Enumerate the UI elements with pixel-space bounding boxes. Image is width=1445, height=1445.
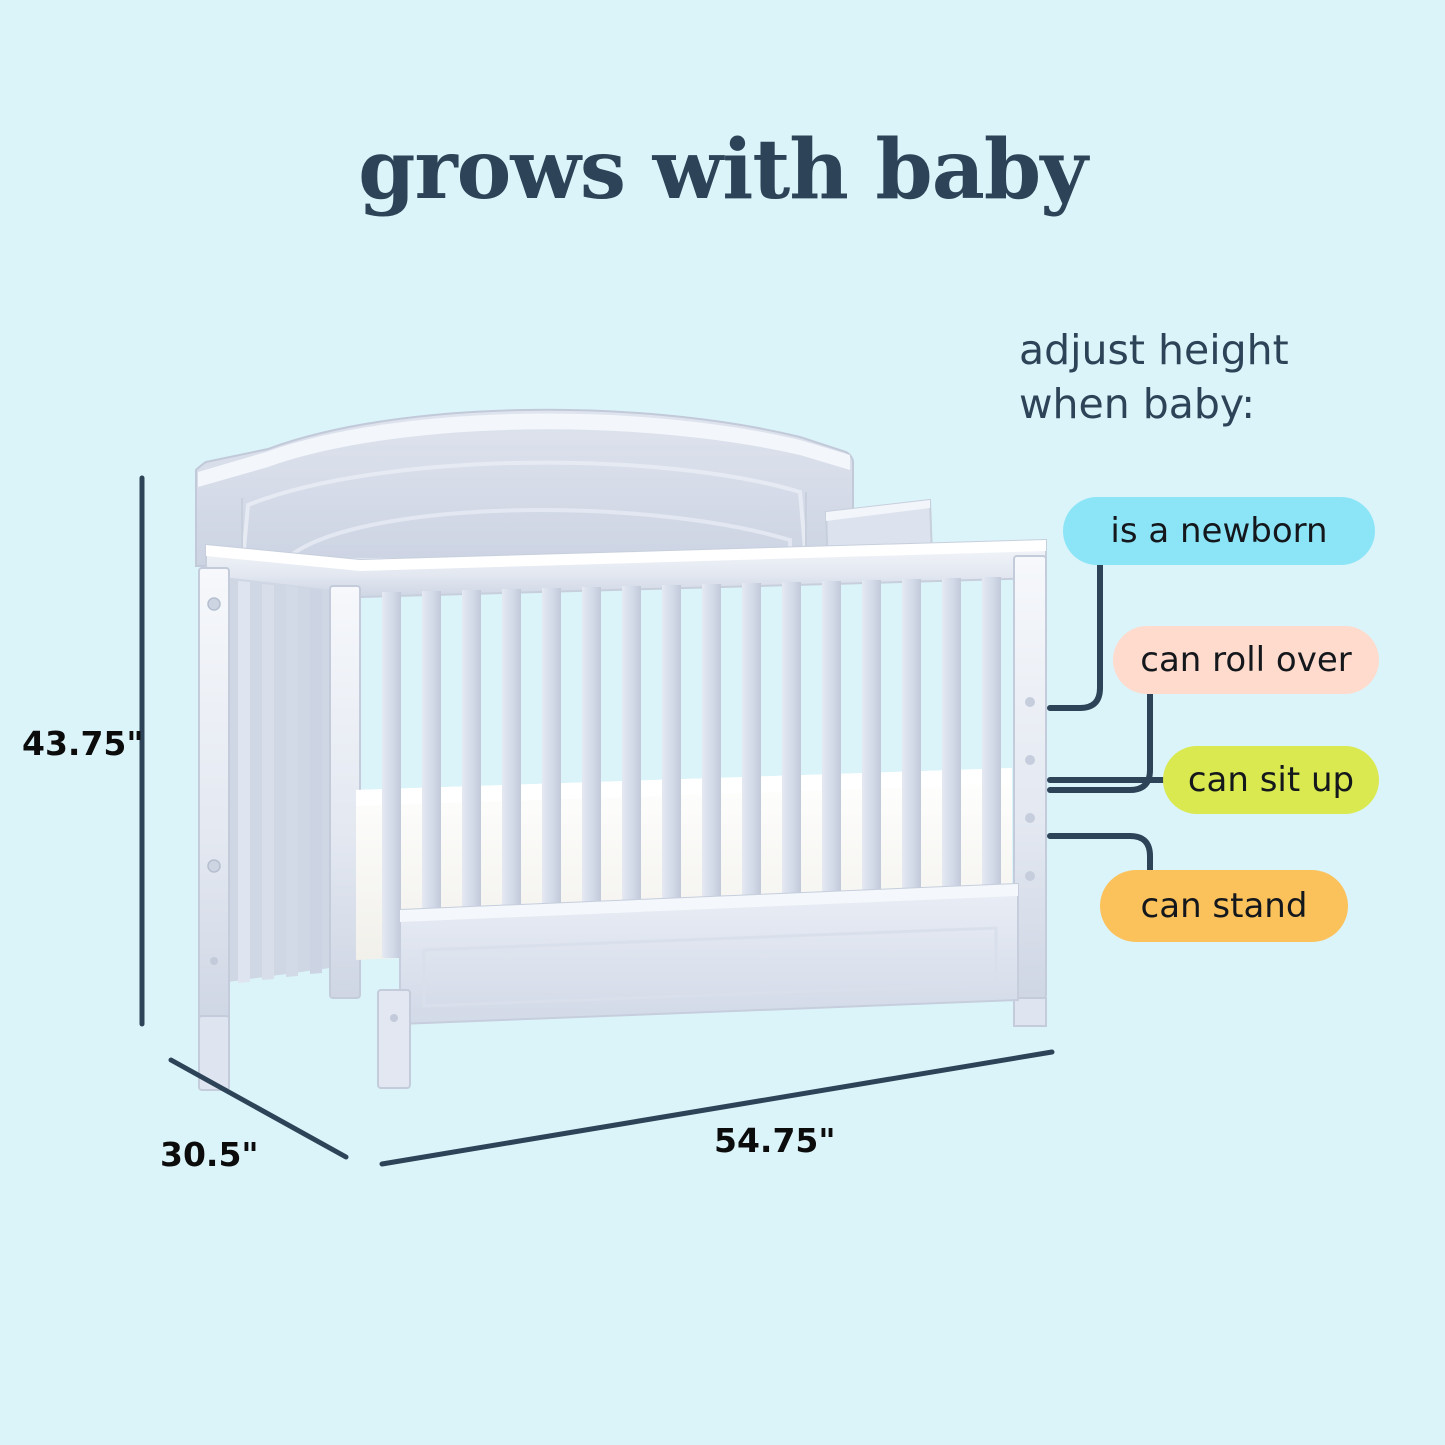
callout-heading: adjust height when baby: bbox=[1019, 323, 1349, 431]
milestone-pill-stand[interactable]: can stand bbox=[1100, 870, 1348, 942]
milestone-pill-label: can roll over bbox=[1140, 640, 1351, 680]
callout-connectors bbox=[0, 0, 1445, 1445]
milestone-pill-sit-up[interactable]: can sit up bbox=[1163, 746, 1379, 814]
milestone-pill-roll-over[interactable]: can roll over bbox=[1113, 626, 1379, 694]
callout-heading-line2: when baby: bbox=[1019, 377, 1349, 431]
connector-stand bbox=[1050, 836, 1150, 870]
infographic-canvas: grows with baby bbox=[0, 0, 1445, 1445]
milestone-pill-label: is a newborn bbox=[1110, 511, 1327, 551]
milestone-pill-label: can sit up bbox=[1188, 760, 1354, 800]
milestone-pill-label: can stand bbox=[1141, 886, 1308, 926]
callout-heading-line1: adjust height bbox=[1019, 323, 1349, 377]
milestone-pill-newborn[interactable]: is a newborn bbox=[1063, 497, 1375, 565]
connector-newborn bbox=[1050, 565, 1100, 708]
